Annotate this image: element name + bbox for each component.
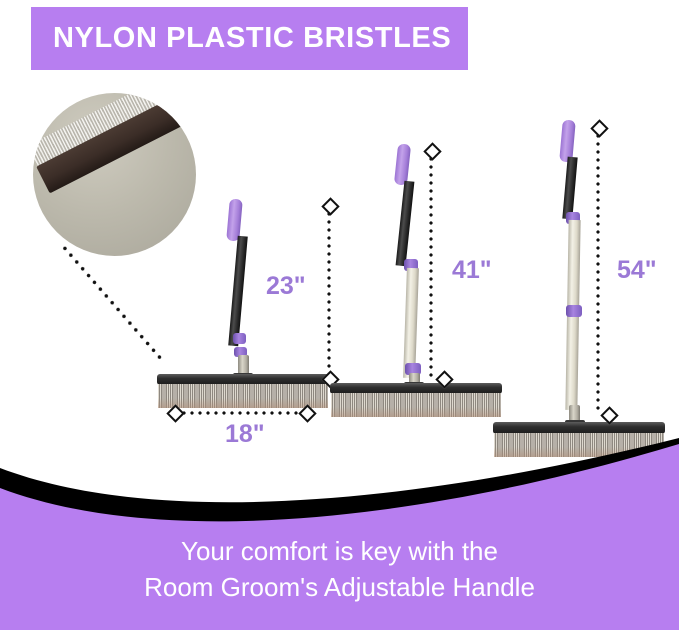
broom1-head-bristles: [158, 384, 328, 408]
dim-label-height-41: 41": [452, 256, 492, 285]
bristle-closeup-inset: [33, 93, 196, 256]
header-banner: NYLON PLASTIC BRISTLES: [31, 7, 468, 70]
product-infographic: NYLON PLASTIC BRISTLES 23" 18": [0, 0, 679, 630]
footer-line-1: Your comfort is key with the: [0, 533, 679, 569]
broom2-pole-lower: [403, 268, 419, 378]
broom1-pole: [228, 236, 248, 346]
dim-18-line: [180, 411, 302, 415]
dim-41-line: [429, 155, 433, 377]
page-title: NYLON PLASTIC BRISTLES: [31, 22, 451, 55]
dim-23-line: [327, 210, 331, 377]
leader-dotted-line: [60, 244, 165, 364]
broom2-grip: [394, 143, 411, 185]
dim-label-height-54: 54": [617, 256, 657, 285]
footer-tagline: Your comfort is key with the Room Groom'…: [0, 533, 679, 605]
broom3-collar-lower: [566, 305, 582, 317]
broom2-head-bristles: [331, 393, 501, 417]
broom2-pole-upper: [396, 181, 415, 267]
dim-label-height-23: 23": [266, 272, 306, 301]
dim-54-line: [596, 132, 600, 412]
broom3-pole-upper: [562, 157, 577, 220]
broom1-collar-upper: [233, 333, 246, 344]
footer-line-2: Room Groom's Adjustable Handle: [0, 569, 679, 605]
